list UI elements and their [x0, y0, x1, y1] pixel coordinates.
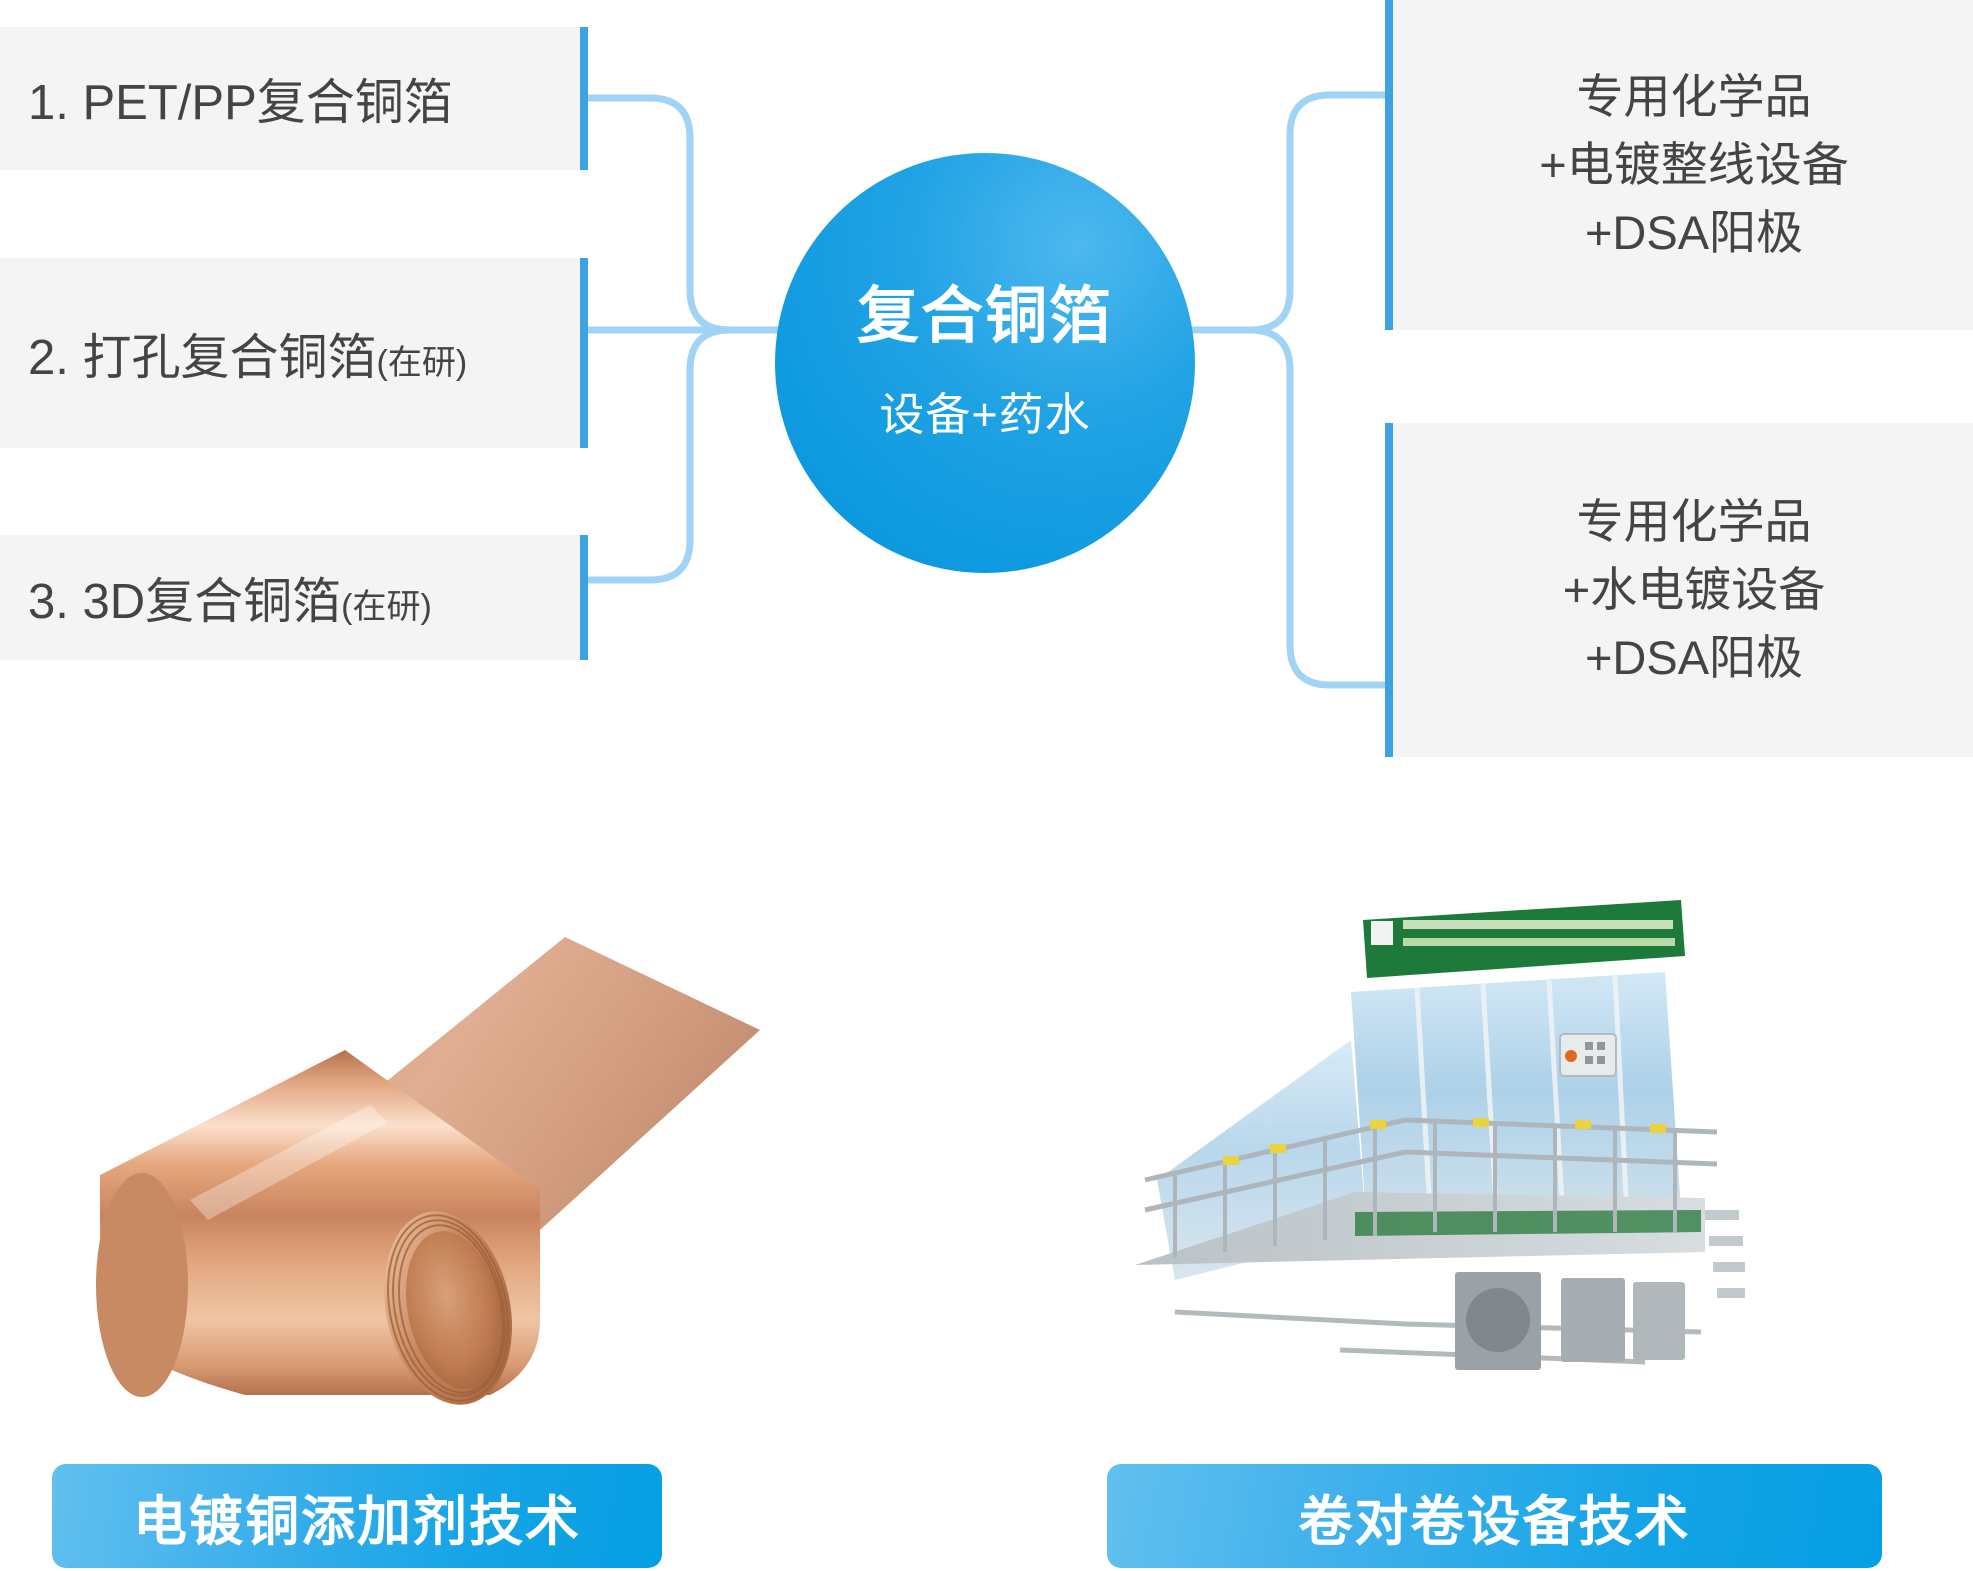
- banner-left[interactable]: 电镀铜添加剂技术: [52, 1464, 662, 1568]
- right-item-1-line-1: 专用化学品: [1577, 63, 1812, 131]
- left-item-3-note: (在研): [341, 588, 432, 626]
- wire-left-3: [588, 330, 790, 580]
- left-item-1-accent-bar: [580, 27, 588, 170]
- left-item-2-note: (在研): [377, 344, 468, 382]
- foil-roll-left-face: [96, 1173, 188, 1397]
- cabinet-unit: [1633, 1282, 1685, 1360]
- left-item-2-label: 打孔复合铜箔: [83, 331, 377, 385]
- left-item-1-index: 1.: [28, 76, 69, 130]
- deck-green-strip: [1355, 1210, 1701, 1236]
- pump-grille-icon: [1466, 1288, 1530, 1352]
- wire-right-1: [1185, 95, 1388, 330]
- roll-to-roll-plating-line-photo: [1105, 880, 1745, 1425]
- right-item-2[interactable]: 专用化学品 +水电镀设备 +DSA阳极: [1385, 423, 1973, 757]
- right-item-1-accent-bar: [1385, 0, 1393, 330]
- left-item-1-label: PET/PP复合铜箔: [83, 76, 453, 130]
- signboard-logo-icon: [1371, 921, 1393, 945]
- emergency-stop-icon: [1565, 1050, 1577, 1062]
- left-item-1[interactable]: 1. PET/PP复合铜箔: [0, 27, 588, 170]
- banner-right[interactable]: 卷对卷设备技术: [1107, 1464, 1882, 1568]
- left-item-2-index: 2.: [28, 331, 69, 385]
- hub-subtitle: 设备+药水: [879, 378, 1090, 443]
- left-item-2-accent-bar: [580, 258, 588, 448]
- right-item-1-line-2: +电镀整线设备: [1539, 131, 1848, 199]
- right-item-1[interactable]: 专用化学品 +电镀整线设备 +DSA阳极: [1385, 0, 1973, 330]
- banner-left-label: 电镀铜添加剂技术: [133, 1477, 581, 1556]
- right-item-2-line-1: 专用化学品: [1577, 488, 1812, 556]
- hub-circle[interactable]: 复合铜箔 设备+药水: [775, 153, 1195, 573]
- left-item-3-index: 3.: [28, 575, 69, 629]
- right-item-1-line-3: +DSA阳极: [1585, 199, 1803, 267]
- banner-right-label: 卷对卷设备技术: [1299, 1477, 1691, 1556]
- left-item-1-text: 1. PET/PP复合铜箔: [28, 63, 453, 134]
- left-item-3[interactable]: 3. 3D复合铜箔(在研): [0, 535, 588, 660]
- right-item-2-line-3: +DSA阳极: [1585, 624, 1803, 692]
- wire-right-2: [1185, 330, 1388, 685]
- left-item-3-accent-bar: [580, 535, 588, 660]
- left-item-3-label: 3D复合铜箔: [83, 575, 342, 629]
- left-item-3-text: 3. 3D复合铜箔(在研): [28, 562, 432, 633]
- left-item-2-text: 2. 打孔复合铜箔(在研): [28, 318, 467, 389]
- left-item-2[interactable]: 2. 打孔复合铜箔(在研): [0, 258, 588, 448]
- wire-left-1: [588, 98, 790, 330]
- copper-foil-roll-photo: [70, 900, 790, 1420]
- tank-unit: [1561, 1278, 1625, 1362]
- right-item-2-accent-bar: [1385, 423, 1393, 757]
- infographic-root: 1. PET/PP复合铜箔 2. 打孔复合铜箔(在研) 3. 3D复合铜箔(在研…: [0, 0, 1973, 1571]
- hub-title: 复合铜箔: [857, 283, 1113, 351]
- right-item-2-line-2: +水电镀设备: [1563, 556, 1825, 624]
- access-stairs: [1705, 1210, 1745, 1298]
